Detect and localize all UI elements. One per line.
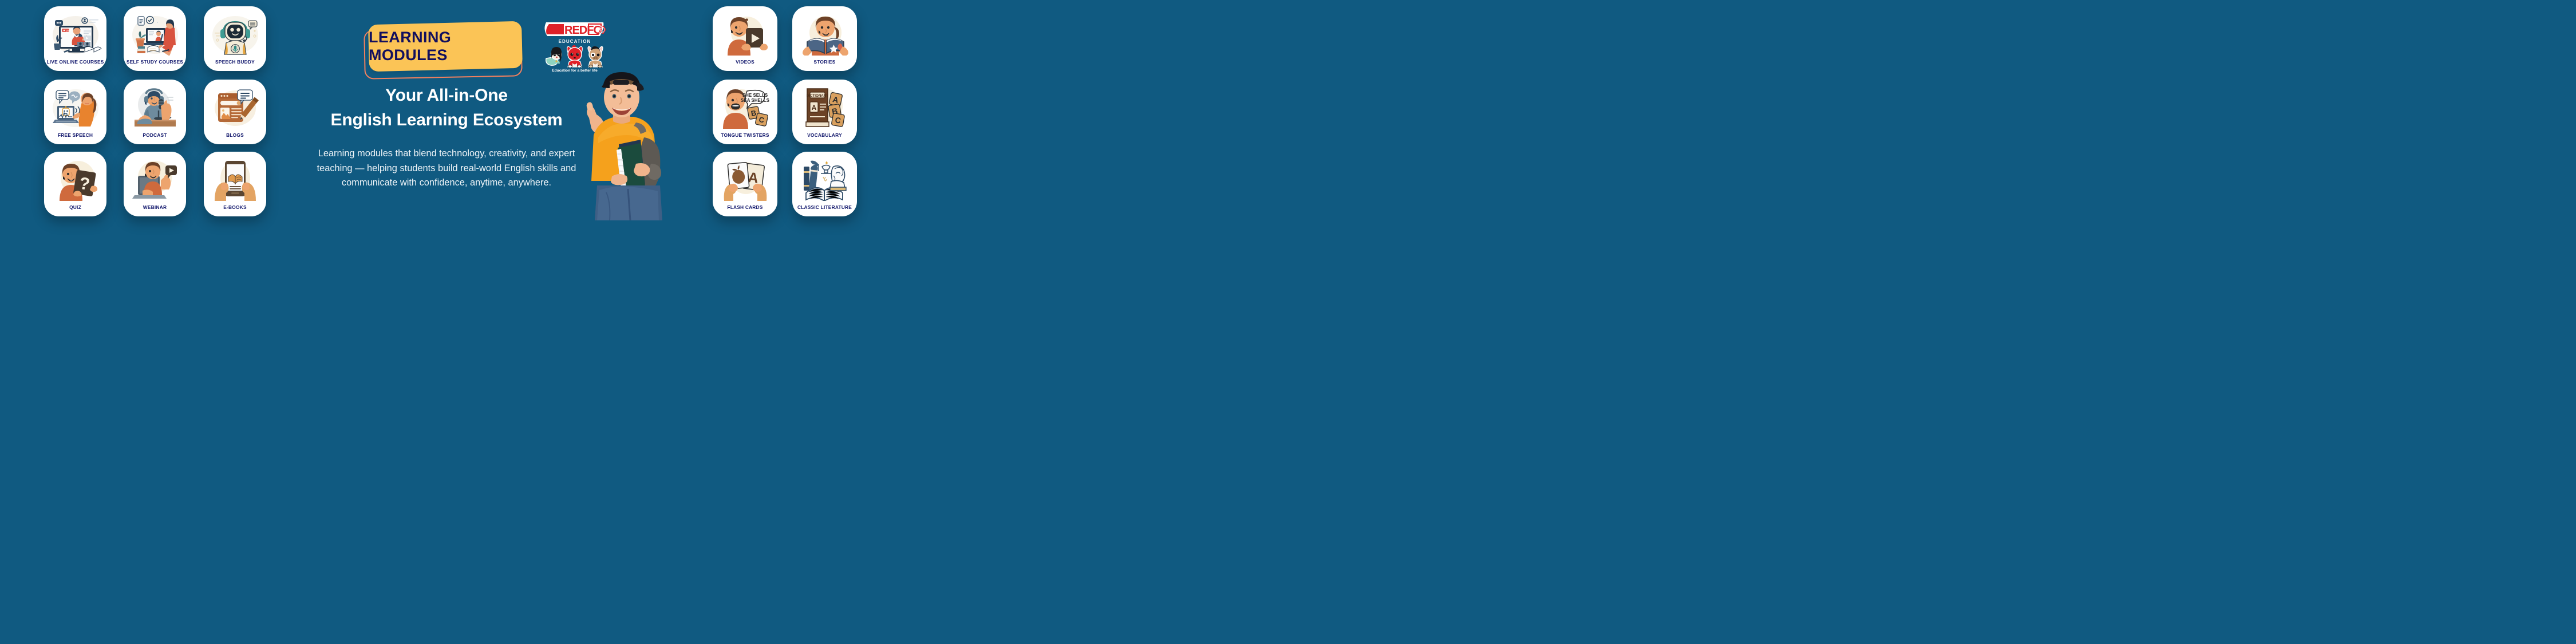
banner-canvas: LIVE — [0, 0, 2576, 644]
module-card-free-speech[interactable]: FREE SPEECH — [44, 80, 106, 144]
live-online-courses-icon: LIVE — [44, 6, 106, 60]
dictionary-title: DICTIONARY — [806, 94, 828, 98]
module-card-blogs[interactable]: BLOGS — [204, 80, 266, 144]
module-card-podcast[interactable]: PODCAST — [124, 80, 186, 144]
learning-modules-badge: LEARNING MODULES — [361, 22, 527, 79]
module-card-label: VOCABULARY — [805, 133, 844, 144]
blogs-icon — [204, 80, 266, 133]
module-card-webinar[interactable]: WEBINAR — [124, 152, 186, 216]
module-card-label: FLASH CARDS — [725, 205, 765, 216]
videos-icon — [713, 6, 777, 60]
vocabulary-icon: DICTIONARY A A B C — [792, 80, 857, 133]
headline-line-1: Your All-in-One — [298, 84, 595, 108]
module-card-tongue-twisters[interactable]: SHE SELLS SEA SHELLS B C TONGUE TWISTERS — [713, 80, 777, 144]
module-card-label: CLASSIC LITERATURE — [795, 205, 854, 216]
student-photo — [564, 63, 678, 220]
module-card-e-books[interactable]: E-BOOKS — [204, 152, 266, 216]
webinar-icon — [124, 152, 186, 205]
svg-text:LIVE: LIVE — [66, 29, 71, 32]
module-card-speech-buddy[interactable]: SPEECH BUDDY — [204, 6, 266, 71]
tongue-twisters-icon: SHE SELLS SEA SHELLS B C — [713, 80, 777, 133]
registered-trademark-icon: ® — [598, 25, 605, 35]
page-title: Your All-in-One English Learning Ecosyst… — [298, 84, 595, 132]
redfox-logo-mark: REDFOX — [544, 21, 606, 38]
classic-literature-icon — [792, 152, 857, 205]
module-card-quiz[interactable]: ? QUIZ — [44, 152, 106, 216]
svg-text:A: A — [811, 104, 816, 112]
module-card-label: VIDEOS — [733, 60, 757, 71]
bubble-line-1: SHE SELLS — [742, 93, 768, 98]
module-card-label: LIVE ONLINE COURSES — [44, 60, 106, 71]
free-speech-icon — [44, 80, 106, 133]
module-card-label: QUIZ — [67, 205, 84, 216]
module-card-label: BLOGS — [224, 133, 246, 144]
logo-subtitle: EDUCATION — [538, 39, 611, 44]
e-books-icon — [204, 152, 266, 205]
quiz-icon: ? — [44, 152, 106, 205]
self-study-courses-icon — [124, 6, 186, 60]
module-card-label: SELF STUDY COURSES — [124, 60, 185, 71]
podcast-icon — [124, 80, 186, 133]
flash-cards-icon: A — [713, 152, 777, 205]
body-paragraph: Learning modules that blend technology, … — [312, 147, 581, 191]
module-card-label: FREE SPEECH — [56, 133, 95, 144]
module-card-flash-cards[interactable]: A FLASH CARDS — [713, 152, 777, 216]
module-card-live-online-courses[interactable]: LIVE — [44, 6, 106, 71]
bubble-line-2: SEA SHELLS — [741, 98, 770, 103]
module-card-label: SPEECH BUDDY — [213, 60, 257, 71]
module-card-classic-literature[interactable]: CLASSIC LITERATURE — [792, 152, 857, 216]
module-card-videos[interactable]: VIDEOS — [713, 6, 777, 71]
module-card-vocabulary[interactable]: DICTIONARY A A B C — [792, 80, 857, 144]
module-card-label: TONGUE TWISTERS — [718, 133, 771, 144]
module-card-stories[interactable]: STORIES — [792, 6, 857, 71]
speech-buddy-icon — [204, 6, 266, 60]
badge-fill: LEARNING MODULES — [368, 21, 523, 72]
module-card-self-study-courses[interactable]: SELF STUDY COURSES — [124, 6, 186, 71]
module-card-label: STORIES — [811, 60, 837, 71]
badge-text: LEARNING MODULES — [369, 29, 522, 64]
stories-icon — [792, 6, 857, 60]
module-card-label: PODCAST — [140, 133, 169, 144]
module-card-label: E-BOOKS — [221, 205, 249, 216]
headline-line-2: English Learning Ecosystem — [298, 108, 595, 133]
module-card-label: WEBINAR — [141, 205, 169, 216]
mermaid-mascot — [546, 47, 562, 65]
